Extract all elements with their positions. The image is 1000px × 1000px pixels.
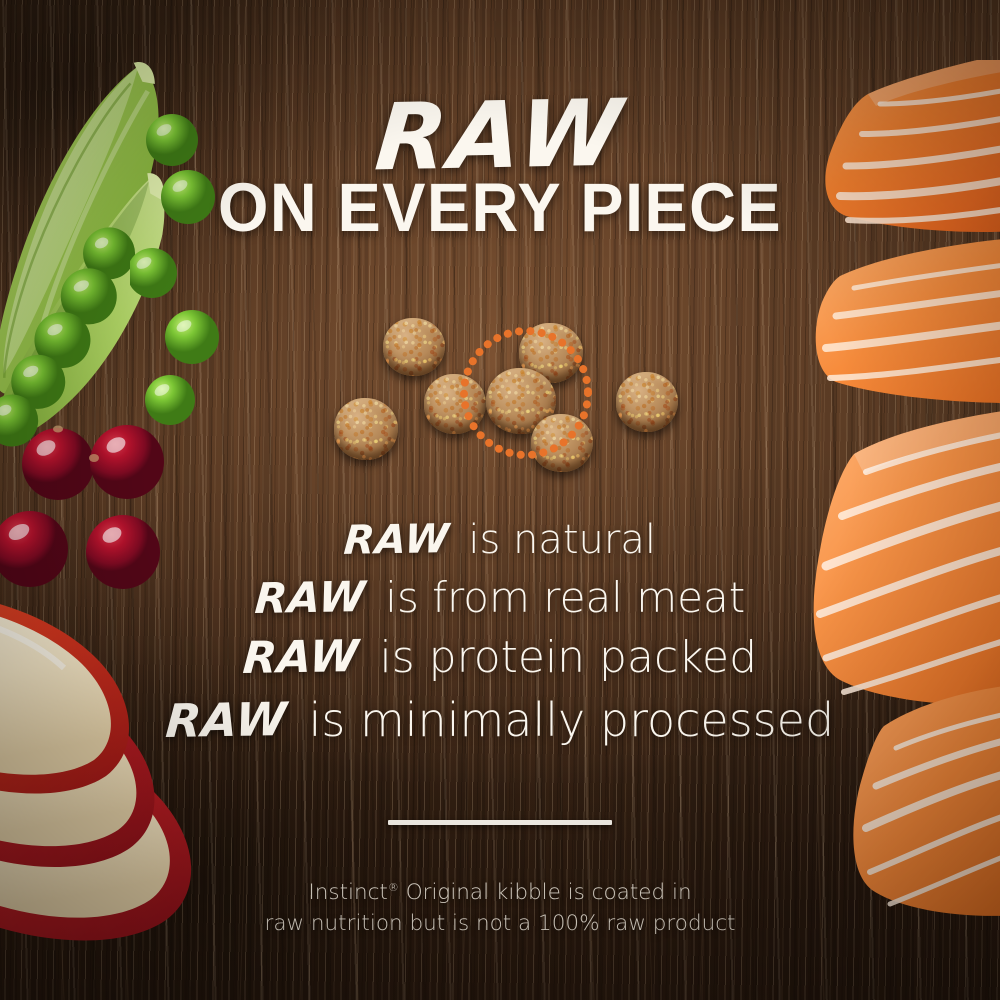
promo-image: RAW ON EVERY PIECE RAW is natural RAW is… — [0, 0, 1000, 1000]
vignette-overlay — [0, 0, 1000, 1000]
